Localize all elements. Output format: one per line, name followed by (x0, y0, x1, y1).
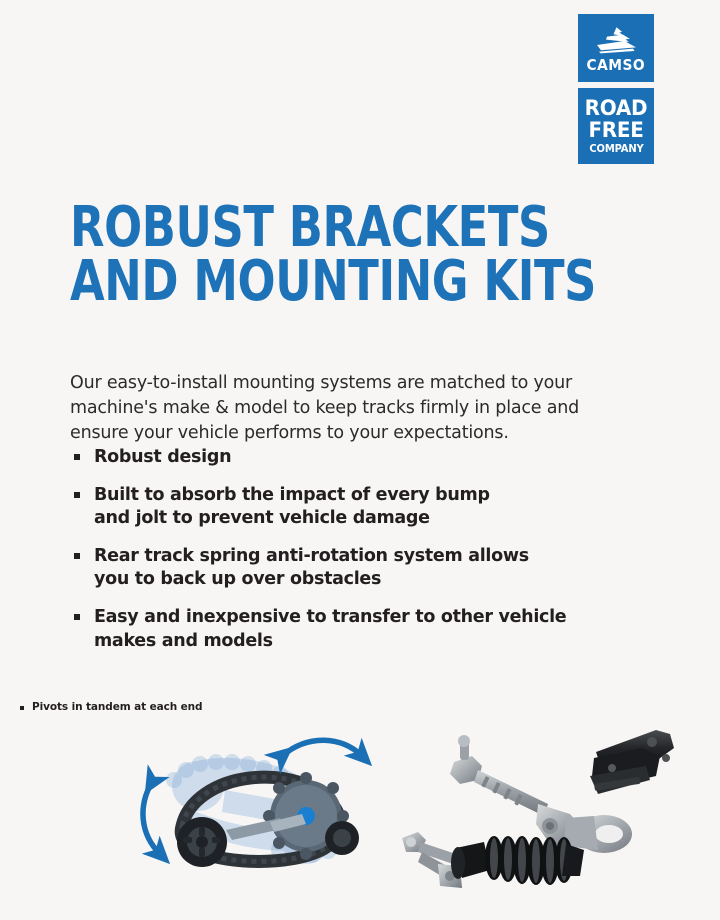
feature-bullet-list: Robust design Built to absorb the impact… (72, 446, 642, 668)
list-item: Rear track spring anti-rotation system a… (72, 545, 642, 591)
rear-wheel (325, 821, 359, 855)
list-item: Built to absorb the impact of every bump… (72, 484, 642, 530)
page-title-line-1: ROBUST BRACKETS (70, 201, 486, 256)
list-item-line-1: Robust design (94, 446, 642, 469)
camso-logo: CAMSO (578, 14, 654, 82)
list-item: Easy and inexpensive to transfer to othe… (72, 606, 642, 652)
mounting-bracket (590, 730, 674, 794)
page-title: ROBUST BRACKETS AND MOUNTING KITS (70, 201, 486, 311)
list-item-line-2: makes and models (94, 630, 642, 653)
list-item-line-1: Built to absorb the impact of every bump (94, 484, 642, 507)
idler-wheel (177, 817, 227, 867)
page-title-line-2: AND MOUNTING KITS (70, 255, 486, 310)
list-item-line-1: Rear track spring anti-rotation system a… (94, 545, 642, 568)
bullet-square-icon (74, 454, 80, 460)
intro-paragraph: Our easy-to-install mounting systems are… (70, 371, 630, 447)
list-item-line-1: Easy and inexpensive to transfer to othe… (94, 606, 642, 629)
brand-logo-stack: CAMSO ROAD FREE COMPANY (578, 14, 654, 164)
figure-caption: Pivots in tandem at each end (20, 701, 202, 713)
badge-line-company: COMPANY (589, 144, 643, 155)
pivot-arrow-right-horizontal (282, 740, 362, 756)
figure-row (0, 718, 720, 920)
rubber-track-system-pivot-diagram (130, 730, 385, 880)
pivot-arrow-left-vertical (143, 782, 160, 854)
mounting-hardware-photo (398, 718, 710, 903)
camso-wordmark: CAMSO (587, 58, 646, 73)
list-item-line-2: you to back up over obstacles (94, 568, 642, 591)
figure-caption-text: Pivots in tandem at each end (32, 701, 202, 713)
road-free-company-badge: ROAD FREE COMPANY (578, 88, 654, 164)
badge-line-free: FREE (588, 120, 643, 141)
bullet-square-icon (74, 492, 80, 498)
bullet-square-icon (74, 614, 80, 620)
list-item: Robust design (72, 446, 642, 469)
badge-line-road: ROAD (585, 98, 648, 119)
camso-tree-mark-icon (593, 25, 639, 55)
bullet-square-icon (20, 706, 24, 710)
list-item-line-2: and jolt to prevent vehicle damage (94, 507, 642, 530)
bullet-square-icon (74, 553, 80, 559)
